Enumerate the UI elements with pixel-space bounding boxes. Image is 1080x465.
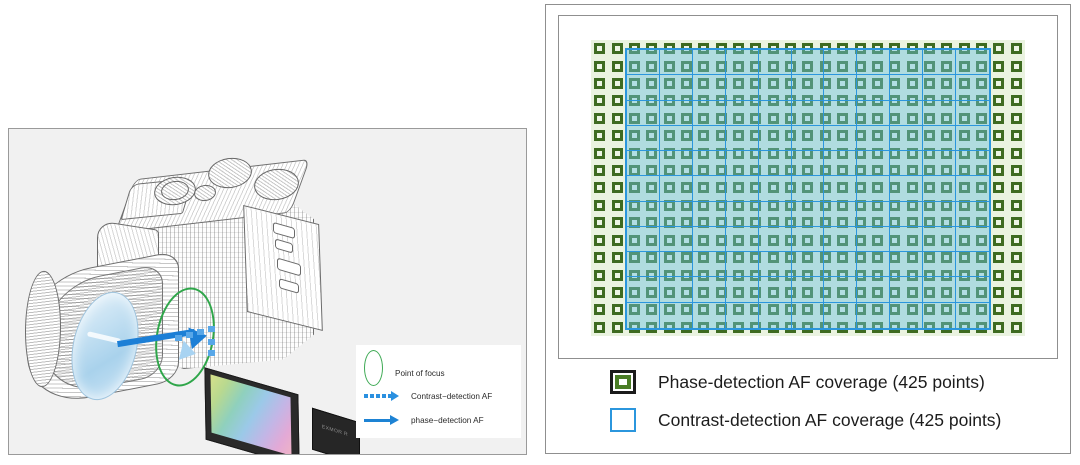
phase-detection-point-square: [993, 217, 1004, 228]
phase-detection-point: [608, 301, 625, 318]
contrast-detection-zone: [923, 277, 956, 302]
contrast-detection-zone: [923, 303, 956, 328]
contrast-detection-zone: [726, 227, 759, 252]
contrast-detection-zone: [890, 202, 923, 227]
contrast-detection-zone: [627, 126, 660, 151]
phase-detection-point: [990, 162, 1007, 179]
illustration-legend: Point of focus Contrast−detection AF pha…: [356, 345, 521, 438]
phase-detection-point: [1008, 57, 1025, 74]
phase-detection-point: [591, 40, 608, 57]
phase-detection-point-square: [993, 304, 1004, 315]
contrast-detection-zone: [923, 227, 956, 252]
phase-detection-point-square: [612, 270, 623, 281]
contrast-detection-zone: [726, 75, 759, 100]
phase-detection-point-square: [612, 322, 623, 333]
phase-detection-point: [608, 284, 625, 301]
contrast-detection-zone: [660, 50, 693, 75]
phase-detection-point-square: [993, 95, 1004, 106]
phase-detection-point: [990, 301, 1007, 318]
phase-detection-point: [1008, 266, 1025, 283]
phase-detection-point-square: [1011, 200, 1022, 211]
phase-detection-point-square: [1011, 182, 1022, 193]
phase-detection-point-square: [594, 113, 605, 124]
contrast-detection-zone: [857, 151, 890, 176]
legend-label-phase-coverage: Phase-detection AF coverage (425 points): [658, 372, 985, 393]
contrast-detection-zone: [792, 50, 825, 75]
phase-detection-point-square: [993, 165, 1004, 176]
contrast-detection-zone: [824, 252, 857, 277]
phase-detection-point-square: [993, 43, 1004, 54]
dotted-arrow-dot: [370, 394, 374, 398]
contrast-detection-zone: [693, 50, 726, 75]
dotted-arrow-dot: [364, 394, 368, 398]
legend-label-point-of-focus: Point of focus: [395, 369, 445, 378]
contrast-detection-dot: [208, 326, 215, 332]
dotted-arrow-dot: [376, 394, 380, 398]
phase-detection-point: [591, 162, 608, 179]
phase-detection-point-square: [612, 182, 623, 193]
phase-detection-point-square: [594, 78, 605, 89]
contrast-detection-dot: [208, 339, 215, 345]
phase-detection-point-square: [594, 148, 605, 159]
phase-detection-point-square: [993, 182, 1004, 193]
phase-detection-point: [608, 232, 625, 249]
contrast-detection-zone: [890, 126, 923, 151]
contrast-detection-zone: [759, 50, 792, 75]
contrast-detection-zone: [956, 126, 989, 151]
phase-detection-point-square: [993, 78, 1004, 89]
phase-detection-point: [1008, 214, 1025, 231]
contrast-detection-dot: [197, 329, 204, 335]
contrast-detection-zone: [923, 252, 956, 277]
phase-detection-point-square: [993, 200, 1004, 211]
contrast-detection-zone: [627, 303, 660, 328]
contrast-detection-zone: [792, 252, 825, 277]
phase-detection-point-square: [594, 165, 605, 176]
contrast-detection-zone: [923, 75, 956, 100]
contrast-detection-zone: [792, 75, 825, 100]
contrast-detection-zone: [956, 277, 989, 302]
phase-detection-point: [591, 92, 608, 109]
contrast-detection-zone: [759, 202, 792, 227]
phase-detection-point-square: [612, 252, 623, 263]
af-coverage-frame: [558, 15, 1058, 359]
phase-detection-point-square: [993, 322, 1004, 333]
contrast-detection-zone: [660, 303, 693, 328]
phase-detection-point: [990, 319, 1007, 336]
contrast-detection-zone: [923, 202, 956, 227]
phase-detection-point-square: [594, 287, 605, 298]
phase-detection-point-square: [594, 130, 605, 141]
contrast-detection-zone: [693, 151, 726, 176]
legend-item-contrast-coverage: Contrast-detection AF coverage (425 poin…: [610, 408, 1058, 432]
contrast-detection-zone: [824, 277, 857, 302]
phase-detection-point-square: [1011, 322, 1022, 333]
phase-detection-point-square: [612, 61, 623, 72]
phase-detection-point-square: [1011, 130, 1022, 141]
phase-detection-swatch-inner: [615, 375, 631, 389]
contrast-detection-zone: [890, 75, 923, 100]
phase-detection-point: [591, 284, 608, 301]
contrast-detection-zone: [759, 176, 792, 201]
contrast-detection-zone: [890, 303, 923, 328]
contrast-detection-zone: [824, 202, 857, 227]
contrast-detection-zone: [923, 151, 956, 176]
contrast-detection-zone: [726, 50, 759, 75]
contrast-detection-zone: [857, 227, 890, 252]
phase-detection-point: [608, 179, 625, 196]
phase-detection-point: [990, 110, 1007, 127]
phase-detection-point: [1008, 232, 1025, 249]
contrast-detection-zone: [923, 126, 956, 151]
phase-detection-point: [591, 127, 608, 144]
phase-detection-point-square: [1011, 217, 1022, 228]
contrast-detection-zone: [956, 303, 989, 328]
phase-detection-point-square: [993, 287, 1004, 298]
contrast-detection-zone: [660, 202, 693, 227]
contrast-detection-arrow-icon: [364, 391, 402, 401]
phase-detection-point-square: [594, 322, 605, 333]
phase-detection-point: [608, 319, 625, 336]
phase-detection-point-square: [612, 148, 623, 159]
phase-detection-point: [1008, 249, 1025, 266]
contrast-detection-zone: [726, 151, 759, 176]
phase-detection-point: [591, 214, 608, 231]
phase-detection-point-square: [1011, 270, 1022, 281]
contrast-detection-zone: [693, 176, 726, 201]
contrast-detection-zone: [627, 227, 660, 252]
phase-detection-point-square: [594, 252, 605, 263]
contrast-detection-zone: [824, 151, 857, 176]
contrast-detection-zone: [890, 101, 923, 126]
phase-detection-point-square: [1011, 61, 1022, 72]
phase-detection-point-square: [612, 304, 623, 315]
contrast-detection-zone: [627, 176, 660, 201]
contrast-detection-zone: [923, 101, 956, 126]
contrast-detection-zone: [693, 227, 726, 252]
phase-detection-point-square: [993, 61, 1004, 72]
phase-detection-point: [1008, 162, 1025, 179]
contrast-detection-zone: [726, 126, 759, 151]
contrast-detection-zone: [792, 176, 825, 201]
contrast-detection-zone: [857, 252, 890, 277]
phase-detection-point: [990, 214, 1007, 231]
contrast-detection-zone: [759, 277, 792, 302]
phase-detection-point: [990, 197, 1007, 214]
contrast-detection-zone: [792, 277, 825, 302]
contrast-detection-zone: [660, 227, 693, 252]
contrast-detection-zone: [890, 176, 923, 201]
phase-detection-point: [1008, 75, 1025, 92]
contrast-detection-zone: [857, 50, 890, 75]
phase-detection-point: [1008, 92, 1025, 109]
phase-detection-point-square: [612, 95, 623, 106]
phase-detection-point-square: [612, 200, 623, 211]
contrast-detection-zone: [824, 303, 857, 328]
contrast-detection-zone: [824, 227, 857, 252]
contrast-detection-zone: [627, 277, 660, 302]
contrast-detection-zone: [857, 75, 890, 100]
contrast-detection-zone: [792, 303, 825, 328]
contrast-detection-zone: [792, 227, 825, 252]
phase-detection-point: [608, 197, 625, 214]
phase-detection-point: [608, 144, 625, 161]
contrast-detection-zone: [792, 101, 825, 126]
contrast-detection-zone: [693, 126, 726, 151]
phase-detection-point-square: [993, 130, 1004, 141]
contrast-detection-zone: [627, 202, 660, 227]
contrast-detection-zone: [857, 176, 890, 201]
contrast-detection-zone: [627, 101, 660, 126]
phase-detection-point: [591, 249, 608, 266]
phase-detection-point-square: [594, 182, 605, 193]
phase-detection-point: [990, 40, 1007, 57]
phase-detection-point-square: [612, 165, 623, 176]
contrast-detection-zone: [956, 176, 989, 201]
contrast-detection-zone: [824, 75, 857, 100]
phase-detection-point-square: [594, 270, 605, 281]
contrast-detection-zone: [726, 252, 759, 277]
contrast-detection-dot: [175, 335, 182, 341]
legend-item-point-of-focus: Point of focus: [364, 350, 445, 386]
phase-detection-point: [591, 232, 608, 249]
phase-detection-point: [608, 92, 625, 109]
solid-arrow-shaft: [364, 419, 392, 422]
contrast-detection-zone: [627, 50, 660, 75]
phase-detection-point-square: [612, 287, 623, 298]
solid-arrow-head: [390, 415, 399, 425]
phase-detection-point: [608, 249, 625, 266]
phase-detection-point: [608, 57, 625, 74]
phase-detection-point-square: [1011, 78, 1022, 89]
phase-detection-point: [608, 214, 625, 231]
contrast-detection-zone: [726, 202, 759, 227]
contrast-detection-dot: [208, 350, 215, 356]
phase-detection-point: [990, 232, 1007, 249]
phase-detection-point: [608, 75, 625, 92]
point-of-focus-icon: [364, 350, 383, 386]
phase-detection-point-square: [612, 78, 623, 89]
phase-detection-point: [1008, 110, 1025, 127]
phase-detection-point-square: [993, 148, 1004, 159]
phase-detection-point: [1008, 179, 1025, 196]
phase-detection-point: [608, 40, 625, 57]
phase-detection-point-square: [594, 61, 605, 72]
phase-detection-point-square: [993, 270, 1004, 281]
phase-detection-point: [1008, 197, 1025, 214]
phase-detection-swatch-icon: [610, 370, 636, 394]
contrast-detection-zone: [792, 126, 825, 151]
contrast-detection-zone: [956, 202, 989, 227]
phase-detection-point: [591, 144, 608, 161]
dotted-arrow-dot: [382, 394, 386, 398]
contrast-detection-zone: [890, 252, 923, 277]
legend-label-phase-detection: phase−detection AF: [411, 416, 484, 425]
phase-detection-point: [1008, 127, 1025, 144]
phase-detection-point-square: [612, 43, 623, 54]
contrast-detection-zone: [726, 303, 759, 328]
phase-detection-point-square: [594, 95, 605, 106]
phase-detection-point: [990, 144, 1007, 161]
phase-detection-arrow-icon: [364, 415, 402, 425]
phase-detection-point-square: [993, 235, 1004, 246]
contrast-detection-zone: [759, 227, 792, 252]
phase-detection-point-square: [1011, 95, 1022, 106]
legend-item-phase-detection: phase−detection AF: [364, 415, 484, 425]
camera-cutaway-wireframe: EXMOR R: [9, 129, 369, 455]
phase-detection-point-square: [993, 113, 1004, 124]
legend-label-contrast-coverage: Contrast-detection AF coverage (425 poin…: [658, 410, 1001, 431]
contrast-detection-zone: [792, 202, 825, 227]
phase-detection-point: [591, 197, 608, 214]
contrast-detection-zone: [824, 176, 857, 201]
contrast-detection-zone: [956, 151, 989, 176]
phase-detection-point: [608, 162, 625, 179]
phase-detection-point-square: [612, 113, 623, 124]
contrast-detection-zone: [693, 252, 726, 277]
contrast-detection-zone: [923, 176, 956, 201]
legend-label-contrast-detection: Contrast−detection AF: [411, 392, 492, 401]
af-coverage-panel: Phase-detection AF coverage (425 points)…: [545, 4, 1071, 454]
camera-illustration-panel: EXMOR R Point of focus Contrast−detectio…: [8, 128, 527, 455]
phase-detection-point: [591, 57, 608, 74]
contrast-detection-zone: [956, 75, 989, 100]
phase-detection-point: [591, 110, 608, 127]
phase-detection-point-square: [1011, 43, 1022, 54]
phase-detection-point: [591, 75, 608, 92]
af-coverage-legend: Phase-detection AF coverage (425 points)…: [610, 370, 1058, 446]
contrast-detection-zone: [857, 101, 890, 126]
contrast-detection-zone: [890, 277, 923, 302]
contrast-detection-zone: [693, 202, 726, 227]
phase-detection-point: [591, 319, 608, 336]
phase-detection-point: [990, 57, 1007, 74]
contrast-detection-zone: [890, 151, 923, 176]
contrast-detection-coverage-overlay: [625, 48, 991, 330]
phase-detection-point-square: [1011, 235, 1022, 246]
contrast-detection-zone: [726, 101, 759, 126]
contrast-detection-zone: [660, 277, 693, 302]
contrast-detection-zone: [660, 126, 693, 151]
contrast-detection-zone: [660, 151, 693, 176]
phase-detection-point-square: [1011, 148, 1022, 159]
contrast-detection-zone: [824, 50, 857, 75]
phase-detection-point-square: [594, 43, 605, 54]
phase-detection-point-square: [1011, 252, 1022, 263]
contrast-detection-zone: [759, 151, 792, 176]
phase-detection-point-square: [594, 235, 605, 246]
contrast-detection-zone: [660, 176, 693, 201]
phase-detection-point-square: [612, 235, 623, 246]
phase-detection-point: [990, 266, 1007, 283]
dotted-arrow-head: [391, 391, 399, 401]
phase-detection-point: [1008, 301, 1025, 318]
contrast-detection-zone: [956, 252, 989, 277]
contrast-detection-zone: [792, 151, 825, 176]
phase-detection-point: [990, 127, 1007, 144]
phase-detection-point: [990, 75, 1007, 92]
legend-item-contrast-detection: Contrast−detection AF: [364, 391, 492, 401]
phase-detection-point: [591, 266, 608, 283]
contrast-detection-zone: [759, 252, 792, 277]
contrast-detection-zone: [857, 126, 890, 151]
contrast-detection-zone: [693, 75, 726, 100]
phase-detection-point-square: [1011, 304, 1022, 315]
contrast-detection-zone: [759, 303, 792, 328]
contrast-detection-dot: [186, 332, 193, 338]
contrast-detection-zone: [627, 75, 660, 100]
contrast-detection-zone: [660, 75, 693, 100]
phase-detection-point-square: [594, 304, 605, 315]
contrast-detection-zone: [693, 303, 726, 328]
contrast-detection-zone: [693, 277, 726, 302]
contrast-detection-zone: [627, 151, 660, 176]
contrast-detection-zone: [890, 227, 923, 252]
phase-detection-point: [990, 92, 1007, 109]
phase-detection-point: [591, 301, 608, 318]
contrast-detection-zone: [627, 252, 660, 277]
phase-detection-point: [1008, 144, 1025, 161]
phase-detection-point-square: [1011, 113, 1022, 124]
contrast-detection-swatch-icon: [610, 408, 636, 432]
contrast-detection-zone: [759, 101, 792, 126]
phase-detection-point-square: [594, 200, 605, 211]
contrast-detection-zone: [726, 176, 759, 201]
contrast-detection-zone: [660, 101, 693, 126]
phase-detection-point-square: [594, 217, 605, 228]
contrast-detection-zone: [857, 303, 890, 328]
phase-detection-point: [608, 110, 625, 127]
legend-item-phase-coverage: Phase-detection AF coverage (425 points): [610, 370, 1058, 394]
contrast-detection-zone: [857, 202, 890, 227]
phase-detection-point-square: [1011, 165, 1022, 176]
contrast-detection-zone: [857, 277, 890, 302]
contrast-detection-zone: [759, 126, 792, 151]
contrast-detection-zone: [956, 227, 989, 252]
contrast-detection-zone: [923, 50, 956, 75]
phase-detection-point-square: [612, 217, 623, 228]
phase-detection-point: [990, 179, 1007, 196]
contrast-detection-zone: [824, 126, 857, 151]
phase-detection-point-square: [993, 252, 1004, 263]
contrast-detection-zone: [890, 50, 923, 75]
phase-detection-point: [608, 127, 625, 144]
phase-detection-point: [990, 284, 1007, 301]
phase-detection-point: [591, 179, 608, 196]
phase-detection-point-square: [1011, 287, 1022, 298]
phase-detection-point: [1008, 40, 1025, 57]
phase-detection-point: [608, 266, 625, 283]
contrast-detection-zone: [956, 101, 989, 126]
contrast-detection-zone: [824, 101, 857, 126]
phase-detection-point: [990, 249, 1007, 266]
phase-detection-point-square: [612, 130, 623, 141]
phase-detection-point: [1008, 284, 1025, 301]
contrast-detection-zone: [660, 252, 693, 277]
contrast-detection-zone: [759, 75, 792, 100]
contrast-detection-zone: [726, 277, 759, 302]
phase-detection-point: [1008, 319, 1025, 336]
contrast-detection-zone: [693, 101, 726, 126]
contrast-detection-zone: [956, 50, 989, 75]
